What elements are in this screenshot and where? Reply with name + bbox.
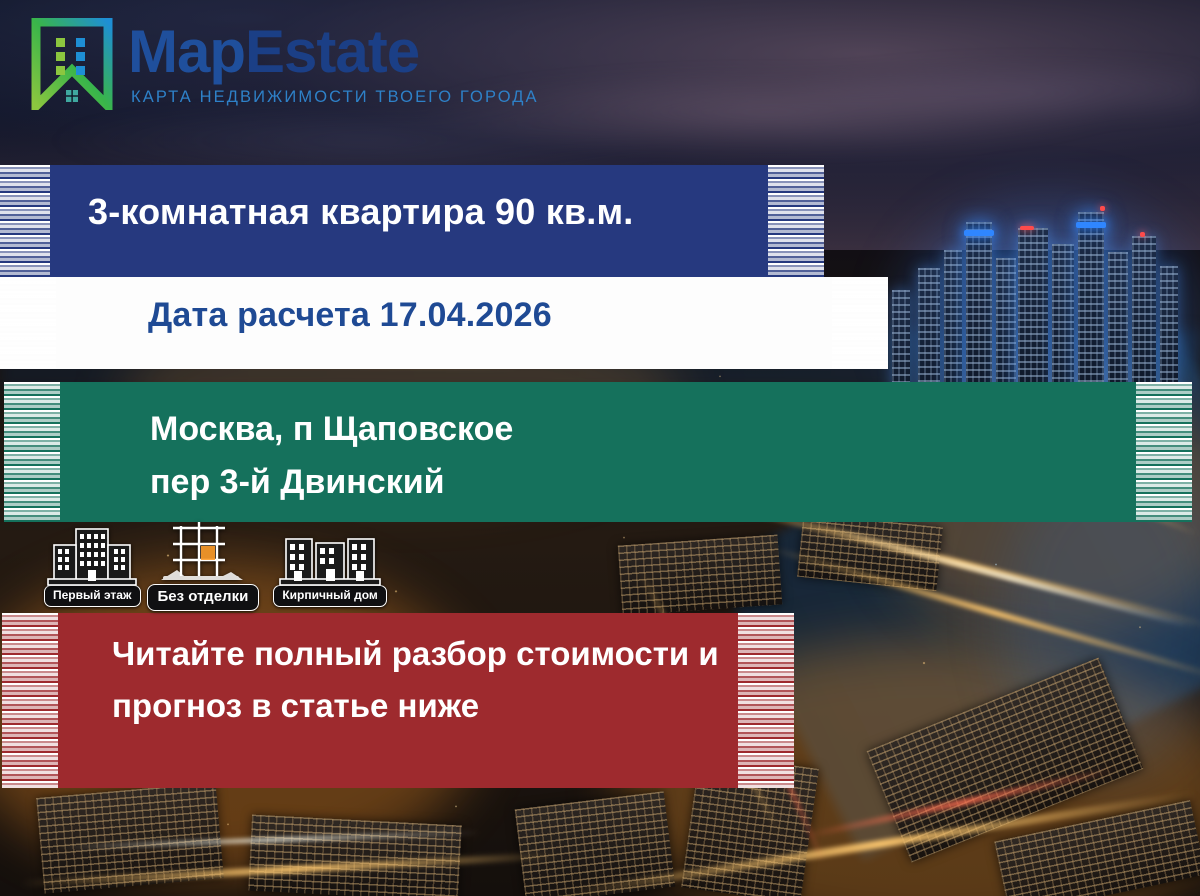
feature-item: Кирпичный дом bbox=[273, 525, 387, 606]
date-band-left-brush bbox=[0, 277, 56, 369]
promo-poster: MapEstate КАРТА НЕДВИЖИМОСТИ ТВОЕГО ГОРО… bbox=[0, 0, 1200, 896]
feature-item: Первый этаж bbox=[44, 525, 141, 606]
map-estate-bookmark-building-icon bbox=[30, 18, 114, 110]
brand-wordmark: MapEstate КАРТА НЕДВИЖИМОСТИ ТВОЕГО ГОРО… bbox=[128, 22, 539, 106]
title-band-left-brush bbox=[0, 165, 50, 285]
unfinished-construction-icon bbox=[155, 518, 251, 590]
address-band-right-brush bbox=[1136, 382, 1192, 522]
feature-item: Без отделки bbox=[147, 518, 260, 611]
brand-name-estate: Estate bbox=[245, 18, 419, 85]
cta-band-left-brush bbox=[2, 613, 58, 788]
title-band-right-brush bbox=[768, 165, 824, 285]
listing-address: Москва, п Щаповское пер 3-й Двинский bbox=[150, 403, 513, 508]
calculation-date: Дата расчета 17.04.2026 bbox=[148, 296, 552, 335]
brick-house-icon bbox=[278, 525, 382, 591]
feature-badges: Первый этаж bbox=[44, 518, 387, 607]
brand-tagline: КАРТА НЕДВИЖИМОСТИ ТВОЕГО ГОРОДА bbox=[131, 89, 539, 106]
brand-logo[interactable]: MapEstate КАРТА НЕДВИЖИМОСТИ ТВОЕГО ГОРО… bbox=[30, 18, 539, 110]
address-band-left-brush bbox=[4, 382, 60, 522]
cta-text: Читайте полный разбор стоимости и прогно… bbox=[112, 628, 752, 732]
apartment-building-icon bbox=[44, 525, 140, 591]
listing-title: 3-комнатная квартира 90 кв.м. bbox=[88, 191, 633, 233]
brand-name: MapEstate bbox=[128, 22, 539, 82]
brand-name-map: Map bbox=[128, 18, 245, 85]
date-band-right-brush bbox=[832, 277, 888, 369]
